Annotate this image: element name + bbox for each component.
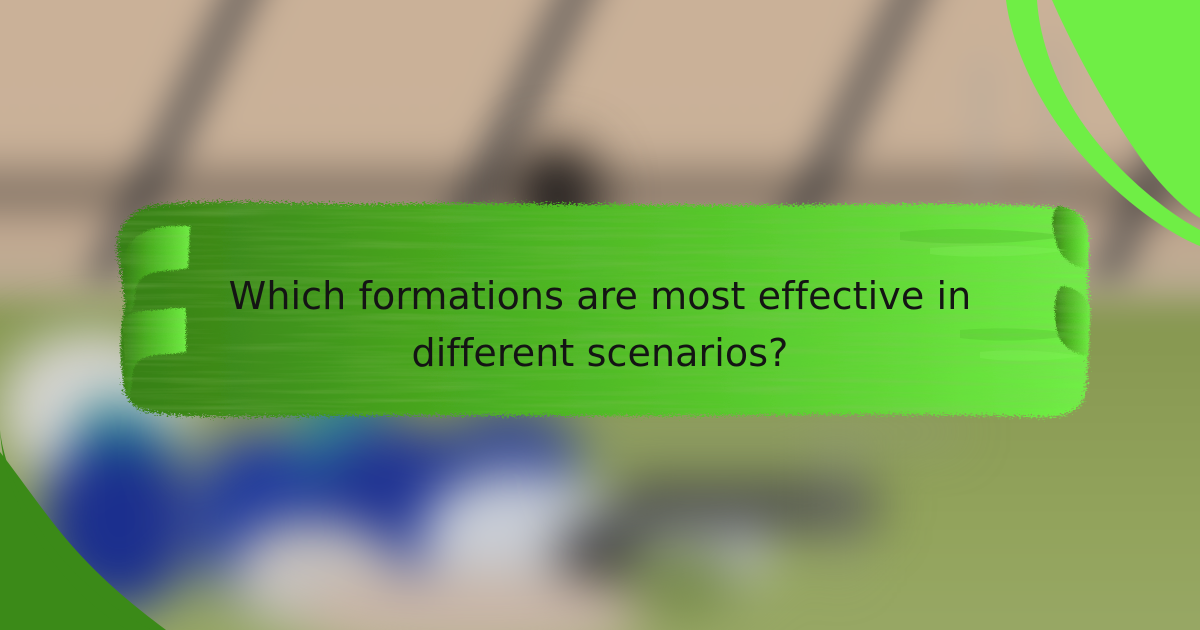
- page-title: Which formations are most effective in d…: [130, 268, 1070, 382]
- ground-sand-blob: [300, 570, 640, 630]
- player-kit-blue-1: [40, 440, 200, 610]
- player-head-dark: [520, 160, 600, 250]
- grass-patch-blob: [620, 545, 740, 615]
- goal-post-left: [182, 424, 198, 604]
- share-card: Which formations are most effective in d…: [0, 0, 1200, 630]
- goal-post-right: [830, 424, 847, 574]
